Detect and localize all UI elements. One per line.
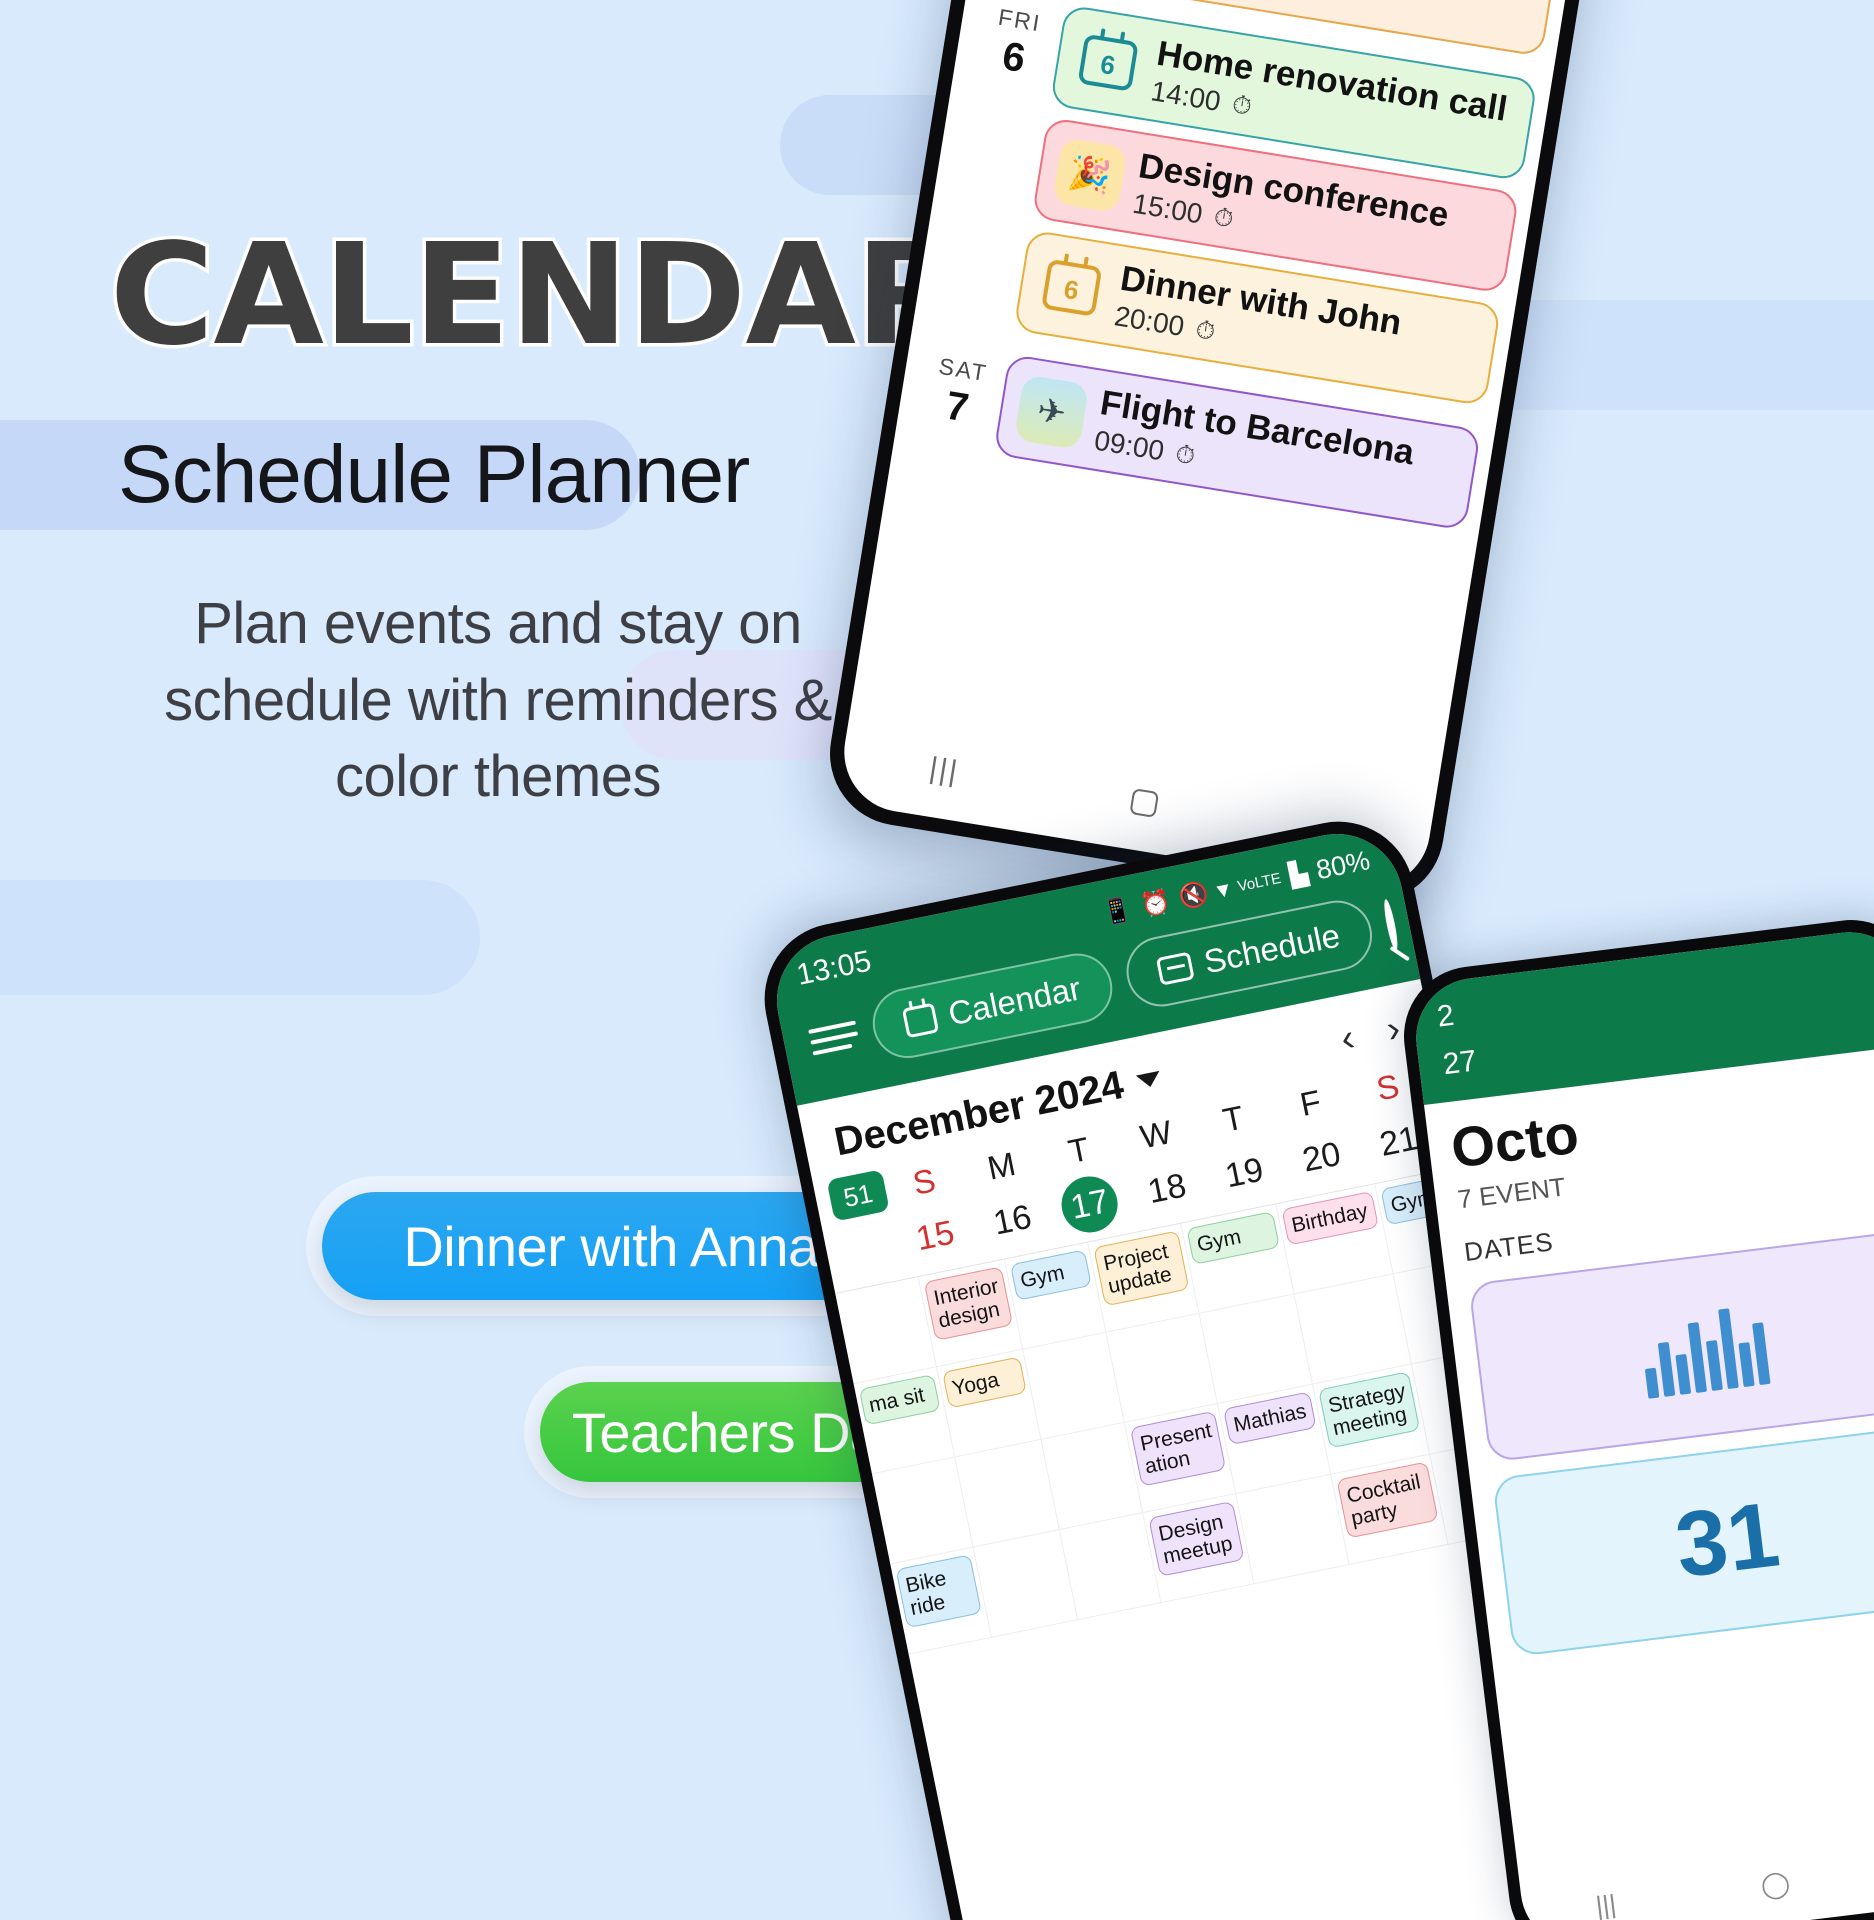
sim-icon: 📱: [1100, 894, 1135, 928]
calendar-event-chip[interactable]: Interior design: [924, 1266, 1014, 1341]
phone-schedule-mockup: 3 Project Update 09:00 ⏱ WED 4: [819, 0, 1610, 912]
day-events: 6 Home renovation call 14:00 ⏱ 🎉: [1011, 4, 1538, 418]
calendar-event-chip[interactable]: Mathias: [1223, 1391, 1316, 1445]
page-title: CALENDAR: [110, 214, 964, 377]
signal-icon: ▙: [1287, 858, 1311, 890]
calendar-event-chip[interactable]: Yoga: [942, 1356, 1027, 1408]
event-meta: 09:00 ☰ ⏱: [1169, 0, 1374, 15]
search-icon[interactable]: [1381, 899, 1399, 952]
calendar-event-chip[interactable]: Strategy meeting: [1318, 1371, 1420, 1448]
next-month-button[interactable]: ›: [1383, 1008, 1404, 1053]
tab-schedule-label: Schedule: [1201, 917, 1343, 982]
calendar-event-chip[interactable]: Cocktail party: [1336, 1461, 1438, 1538]
chevron-down-icon[interactable]: [1135, 1070, 1161, 1089]
alarm-icon: ⏱: [1193, 315, 1217, 347]
date-cell[interactable]: 16: [970, 1193, 1055, 1247]
bar-chart-icon: [1637, 1293, 1770, 1399]
date-cell[interactable]: 15: [893, 1209, 978, 1263]
event-body: Flight to Barcelona 09:00 ⏱: [1092, 383, 1417, 507]
calendar-day-cell[interactable]: Cocktail party: [1331, 1455, 1449, 1565]
calendar-event-chip[interactable]: Bike ride: [895, 1554, 981, 1628]
recents-icon[interactable]: |||: [927, 751, 961, 789]
android-navbar: ||| ◯ ‹: [1520, 1825, 1874, 1920]
calendar-day-cell[interactable]: [1237, 1475, 1350, 1584]
wifi-icon: ▾: [1214, 874, 1232, 905]
event-body: Design conference 15:00 ⏱: [1130, 146, 1451, 269]
event-body: Dinner with John 20:00 ⏱: [1112, 259, 1404, 377]
day-column: FRI 6: [968, 0, 1066, 87]
volte-label: VoLTE: [1236, 869, 1282, 894]
page-tagline: Plan events and stay on schedule with re…: [118, 586, 878, 816]
hamburger-icon[interactable]: [808, 1020, 860, 1055]
alarm-icon: ⏱: [1173, 439, 1197, 471]
detail-date-a: 2: [1435, 999, 1456, 1034]
home-circle-icon[interactable]: [1129, 788, 1159, 818]
date-cell[interactable]: 20: [1279, 1130, 1364, 1184]
calendar-6-icon: 6: [1070, 25, 1146, 101]
calendar-event-chip[interactable]: Gym: [1187, 1211, 1280, 1265]
recents-icon[interactable]: |||: [1594, 1888, 1618, 1920]
calendar-event-chip[interactable]: Design meetup: [1148, 1501, 1245, 1577]
calendar-event-chip[interactable]: Birthday: [1281, 1191, 1379, 1246]
detail-day-card: 31: [1492, 1423, 1874, 1657]
prev-month-button[interactable]: ‹: [1337, 1017, 1358, 1062]
home-circle-icon[interactable]: ◯: [1759, 1867, 1792, 1901]
calendar-event-chip[interactable]: Project update: [1093, 1230, 1190, 1306]
calendar-event-chip[interactable]: ma sit: [859, 1374, 941, 1425]
detail-body: Octo 7 EVENT DATES 31: [1424, 1045, 1874, 1674]
date-cell[interactable]: 18: [1124, 1162, 1209, 1216]
tab-calendar-label: Calendar: [945, 969, 1084, 1033]
detail-day-number: 31: [1670, 1482, 1784, 1599]
schedule-list: 3 Project Update 09:00 ⏱ WED 4: [891, 0, 1595, 557]
airplane-icon: ✈: [1014, 374, 1090, 450]
event-body: Anniversary 09:00 ☰ ⏱: [1169, 0, 1381, 15]
mute-icon: 🔇: [1176, 878, 1211, 912]
month-nav: ‹ ›: [1337, 1008, 1404, 1062]
calendar-event-chip[interactable]: Gym: [1010, 1249, 1092, 1300]
status-time: 13:05: [794, 945, 874, 993]
date-cell[interactable]: 19: [1202, 1146, 1287, 1200]
alarm-icon: ⏰: [1138, 886, 1173, 920]
detail-chart-card: [1468, 1229, 1874, 1463]
calendar-6-icon: 6: [1034, 250, 1110, 326]
confetti-icon: 🎉: [1052, 137, 1128, 213]
alarm-icon: ⏱: [1212, 202, 1236, 234]
date-cell-today[interactable]: 17: [1046, 1169, 1134, 1240]
schedule-icon: [1156, 952, 1195, 986]
page-subtitle: Schedule Planner: [118, 428, 749, 522]
battery-percent: 80%: [1313, 845, 1372, 886]
alarm-icon: ⏱: [1284, 0, 1308, 3]
calendar-icon: [902, 1003, 939, 1039]
alarm-icon: ⏱: [1230, 90, 1254, 122]
calendar-day-cell[interactable]: Design meetup: [1143, 1494, 1255, 1603]
phone-schedule-screen: 3 Project Update 09:00 ⏱ WED 4: [836, 0, 1595, 896]
calendar-event-chip[interactable]: Present ation: [1130, 1411, 1227, 1487]
day-column: SAT 7: [911, 340, 1009, 437]
